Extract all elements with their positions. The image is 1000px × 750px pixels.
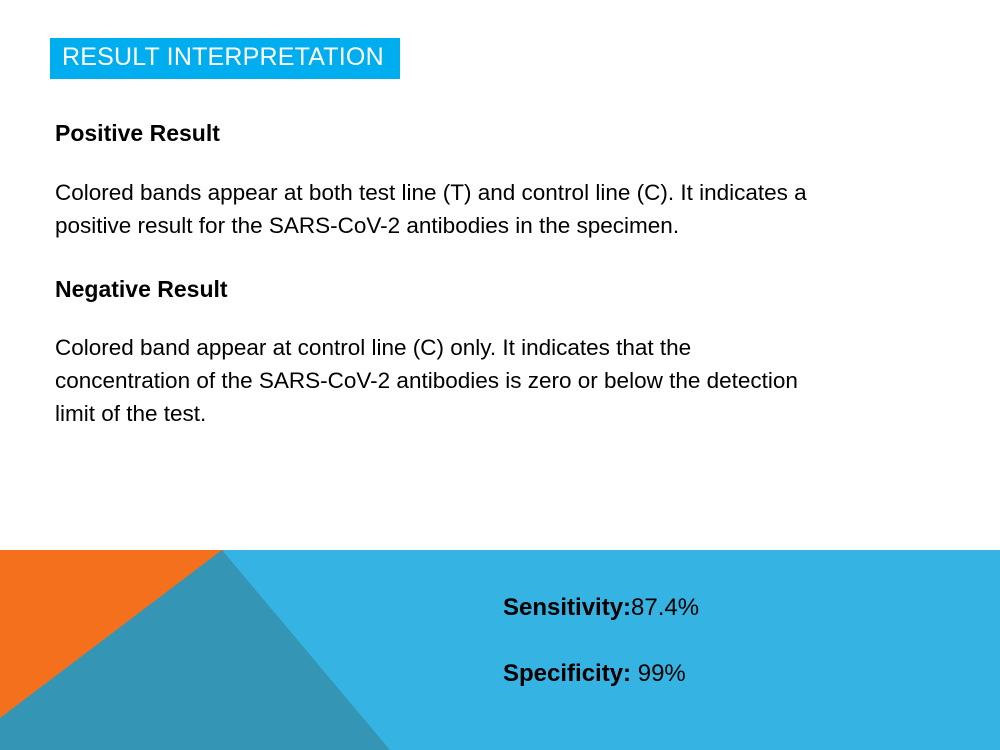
content-area: Positive Result Colored bands appear at …	[55, 120, 845, 430]
footer-band: Sensitivity:87.4% Specificity: 99%	[0, 550, 1000, 750]
section-body-negative: Colored band appear at control line (C) …	[55, 331, 820, 430]
stat-sensitivity: Sensitivity:87.4%	[503, 596, 699, 620]
section-heading-positive: Positive Result	[55, 120, 845, 148]
section-positive-result: Positive Result Colored bands appear at …	[55, 120, 845, 242]
stat-specificity-label: Specificity:	[503, 660, 631, 687]
section-title-banner: RESULT INTERPRETATION	[50, 38, 400, 79]
stat-sensitivity-value: 87.4%	[631, 594, 699, 621]
stat-sensitivity-label: Sensitivity:	[503, 594, 631, 621]
stat-specificity-value: 99%	[631, 660, 686, 687]
stat-specificity: Specificity: 99%	[503, 662, 699, 686]
section-negative-result: Negative Result Colored band appear at c…	[55, 276, 845, 431]
statistics-group: Sensitivity:87.4% Specificity: 99%	[503, 596, 699, 686]
page-title: RESULT INTERPRETATION	[62, 45, 384, 70]
section-body-positive: Colored bands appear at both test line (…	[55, 176, 820, 242]
section-heading-negative: Negative Result	[55, 276, 845, 304]
slide: RESULT INTERPRETATION Positive Result Co…	[0, 0, 1000, 750]
